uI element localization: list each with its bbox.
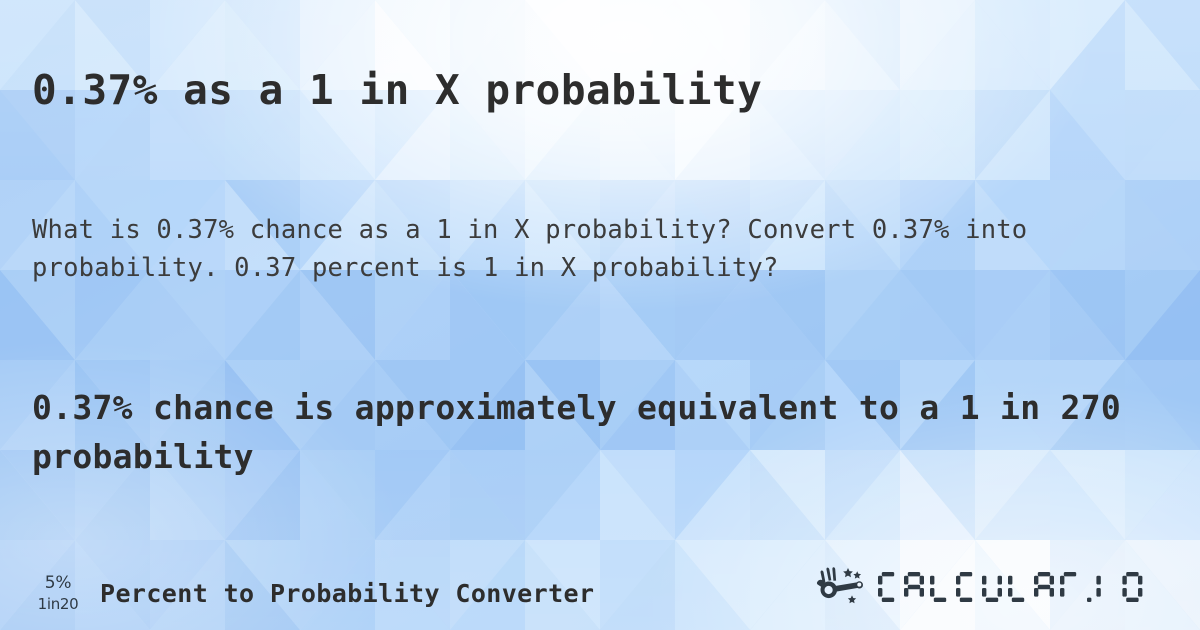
percent-icon-top-text: 5% — [45, 575, 72, 592]
footer-branding-left: 5% 1in20 Percent to Probability Converte… — [30, 575, 594, 612]
percent-icon-bottom-text: 1in20 — [38, 597, 79, 612]
hand-with-magic-wand-icon — [808, 564, 870, 612]
card-footer: 5% 1in20 Percent to Probability Converte… — [0, 546, 1200, 630]
brand-logo[interactable]: CALCULAT.IO — [808, 564, 1176, 612]
card-content: 0.37% as a 1 in X probability What is 0.… — [0, 0, 1200, 630]
converter-name: Percent to Probability Converter — [100, 579, 594, 608]
share-card: 0.37% as a 1 in X probability What is 0.… — [0, 0, 1200, 630]
page-description: What is 0.37% chance as a 1 in X probabi… — [32, 211, 1182, 287]
percent-to-odds-icon: 5% 1in20 — [30, 575, 86, 612]
page-title: 0.37% as a 1 in X probability — [32, 65, 1172, 115]
brand-wordmark — [876, 567, 1176, 609]
answer-statement: 0.37% chance is approximately equivalent… — [32, 383, 1182, 481]
